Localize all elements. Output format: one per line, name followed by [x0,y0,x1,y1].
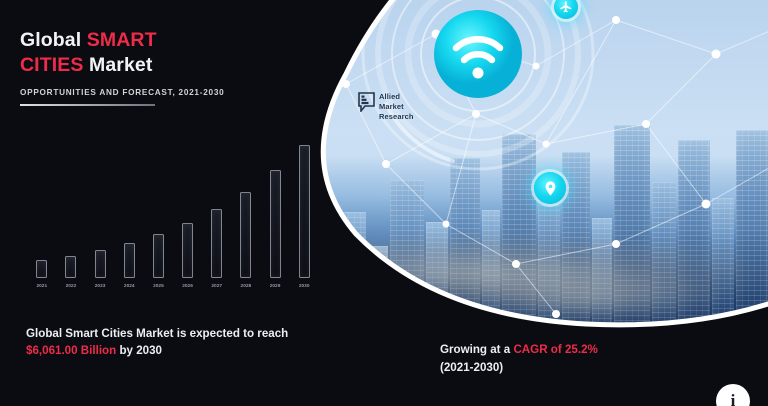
chart-bar [65,256,76,278]
chart-bar-column [28,128,56,278]
chart-x-tick: 2021 [28,284,56,296]
chart-bar-column [203,128,231,278]
chart-bar-column [86,128,114,278]
title-accent-smart: SMART [87,29,157,51]
chart-bar-column [145,128,173,278]
speech-bubble-bars-icon [358,92,375,112]
network-globe-icon [396,290,426,320]
title-accent-cities: CITIES [20,54,83,76]
chart-x-tick: 2029 [261,284,289,296]
chart-bar [270,170,281,278]
chart-bar [36,260,47,278]
chart-x-tick: 2024 [115,284,143,296]
logo-line-3: Research [379,112,414,122]
cagr-period: (2021-2030) [440,359,740,377]
market-size-statement: Global Smart Cities Market is expected t… [26,325,294,360]
statement-right-part1: Growing at a [440,343,513,356]
chart-x-tick: 2028 [232,284,260,296]
chart-bar [124,243,135,278]
chart-bar [95,250,106,278]
chart-bar-column [232,128,260,278]
logo-line-1: Allied [379,92,414,102]
chart-x-tick: 2023 [86,284,114,296]
allied-market-research-logo: Allied Market Research [358,92,414,122]
statement-right-value: CAGR of 25.2% [513,343,597,356]
chart-x-tick: 2025 [145,284,173,296]
page-subtitle: OPPORTUNITIES AND FORECAST, 2021-2030 [20,88,290,97]
banner-heading-group: Global SMART CITIES Market OPPORTUNITIES… [20,28,290,106]
chart-bar [240,192,251,278]
chart-bars [28,128,318,278]
market-report-banner: Allied Market Research Global SMART CITI… [0,0,768,406]
statement-left-value: $6,061.00 Billion [26,344,116,357]
chart-bar-column [174,128,202,278]
statement-left-part1: Global Smart Cities Market is expected t… [26,327,288,340]
chart-bar-column [115,128,143,278]
chart-x-tick: 2030 [290,284,318,296]
title-divider [20,104,155,106]
chart-bar [211,209,222,278]
chart-bar-column [290,128,318,278]
statement-left-part2: by 2030 [116,344,162,357]
chart-bar-column [57,128,85,278]
chart-x-tick: 2027 [203,284,231,296]
chart-x-tick: 2022 [57,284,85,296]
hud-rings [358,0,598,174]
chart-bar-column [261,128,289,278]
cagr-statement: Growing at a CAGR of 25.2% (2021-2030) [440,341,740,377]
logo-line-2: Market [379,102,414,112]
chart-x-axis: 2021202220232024202520262027202820292030 [28,284,318,296]
map-pin-icon [534,172,566,204]
chart-bar [299,145,310,278]
chart-bar [153,234,164,278]
page-title: Global SMART CITIES Market [20,28,290,79]
market-forecast-chart: 2021202220232024202520262027202820292030 [28,128,318,298]
smart-city-photo [286,0,768,330]
title-plain-1: Global [20,29,87,51]
cagr-line-1: Growing at a CAGR of 25.2% [440,341,740,359]
chart-bar [182,223,193,278]
info-icon[interactable]: i [716,384,750,406]
title-plain-2: Market [83,54,152,76]
chart-x-tick: 2026 [174,284,202,296]
logo-text: Allied Market Research [379,92,414,122]
